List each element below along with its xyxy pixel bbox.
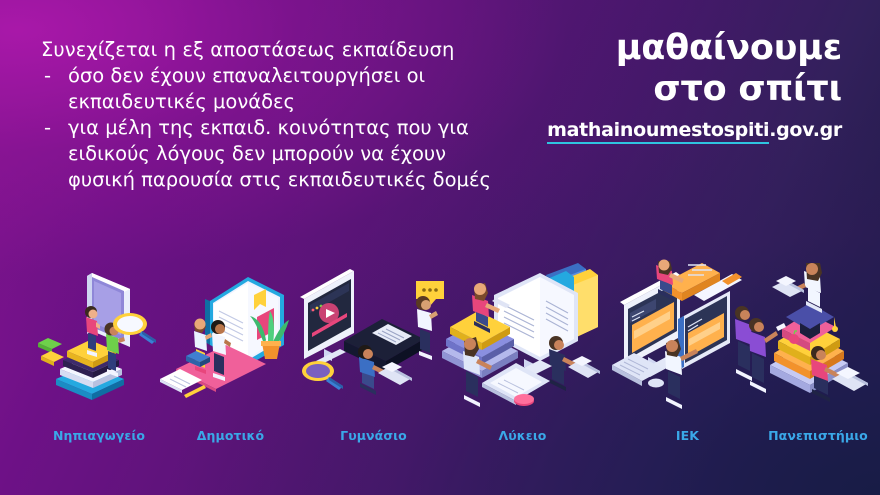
education-levels-strip: Νηπιαγωγείο xyxy=(0,258,880,443)
primary-school-illustration xyxy=(158,261,303,411)
bullet-text: όσο δεν έχουν επαναλειτουργήσει οι εκπαι… xyxy=(68,63,511,115)
copy-lead-line: Συνεχίζεται η εξ αποστάσεως εκπαίδευση xyxy=(41,37,511,63)
university-illustration xyxy=(748,261,880,411)
caption-high-school: Λύκειο xyxy=(440,428,605,443)
middle-school-illustration xyxy=(296,261,451,411)
url-domain-part: mathainoumestospiti xyxy=(547,119,769,144)
slide-canvas: Συνεχίζεται η εξ αποστάσεως εκπαίδευση -… xyxy=(0,0,880,495)
bullet-dash-icon: - xyxy=(41,63,68,89)
bullet-text: για μέλη της εκπαιδ. κοινότητας που για … xyxy=(68,115,511,193)
sticky-notes xyxy=(38,338,64,366)
bullet-dash-icon: - xyxy=(41,115,68,141)
vocational-school-scene xyxy=(610,261,765,409)
kindergarten-illustration xyxy=(34,261,164,411)
keyboard xyxy=(612,353,664,388)
headline-copy-block: Συνεχίζεται η εξ αποστάσεως εκπαίδευση -… xyxy=(41,37,511,193)
list-item: - για μέλη της εκπαιδ. κοινότητας που γι… xyxy=(41,115,511,193)
student-with-laptop xyxy=(549,336,600,391)
brand-logo-lockup: μαθαίνουμε στο σπίτι mathainoumestospiti… xyxy=(547,28,842,141)
primary-school-scene xyxy=(158,261,303,409)
kindergarten-scene xyxy=(34,261,164,409)
high-school-scene xyxy=(440,261,605,409)
university-scene xyxy=(748,261,880,409)
logo-line-one: μαθαίνουμε xyxy=(547,28,842,69)
caption-kindergarten: Νηπιαγωγείο xyxy=(34,428,164,443)
caption-middle-school: Γυμνάσιο xyxy=(296,428,451,443)
caption-vocational: ΙΕΚ xyxy=(610,428,765,443)
mouse xyxy=(514,394,534,406)
caption-university: Πανεπιστήμιο xyxy=(748,428,880,443)
caption-primary: Δημοτικό xyxy=(158,428,303,443)
copy-bullet-list: - όσο δεν έχουν επαναλειτουργήσει οι εκπ… xyxy=(41,63,511,193)
dark-book xyxy=(344,319,424,371)
logo-line-two: στο σπίτι xyxy=(547,69,842,110)
student-with-laptop-top xyxy=(772,263,822,313)
list-item: - όσο δεν έχουν επαναλειτουργήσει οι εκπ… xyxy=(41,63,511,115)
url-tld-part: .gov.gr xyxy=(769,119,842,141)
vocational-school-illustration xyxy=(610,261,765,411)
magnifying-glass-icon xyxy=(302,361,343,390)
high-school-illustration xyxy=(440,261,605,411)
middle-school-scene xyxy=(296,261,451,409)
website-url[interactable]: mathainoumestospiti.gov.gr xyxy=(547,119,842,141)
